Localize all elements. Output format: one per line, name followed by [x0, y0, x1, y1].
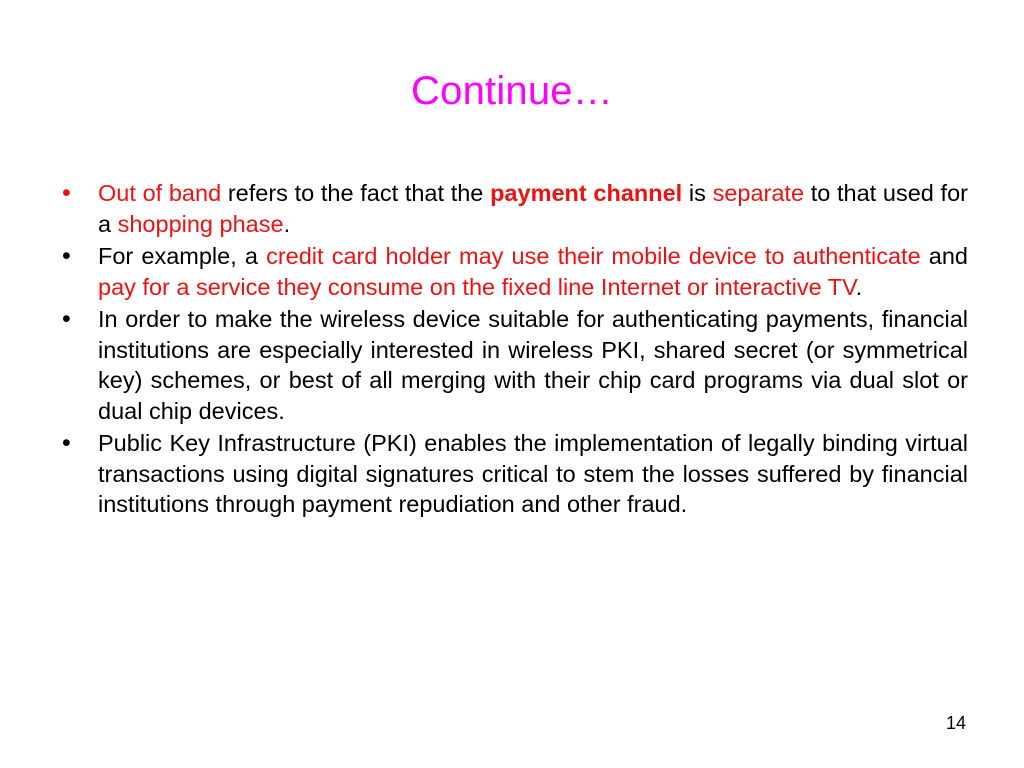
- list-item-text: For example, a credit card holder may us…: [98, 241, 968, 302]
- text-run: Public Key Infrastructure (PKI) enables …: [98, 430, 968, 517]
- bullet-point-icon: •: [62, 304, 71, 335]
- text-run-emphasis: credit card holder may use their mobile …: [266, 243, 921, 269]
- text-run-emphasis: pay for a service they consume on the fi…: [98, 274, 856, 300]
- list-item-text: Out of band refers to the fact that the …: [98, 178, 968, 239]
- list-item: • In order to make the wireless device s…: [58, 304, 968, 426]
- text-run: and: [921, 243, 968, 269]
- text-run: For example, a: [98, 243, 266, 269]
- bullet-point-icon: •: [62, 428, 71, 459]
- list-item-text: Public Key Infrastructure (PKI) enables …: [98, 428, 968, 520]
- list-item: • Out of band refers to the fact that th…: [58, 178, 968, 239]
- text-run: .: [284, 211, 291, 237]
- text-run: refers to the fact that the: [221, 180, 490, 206]
- slide-canvas: Continue… • Out of band refers to the fa…: [0, 0, 1024, 768]
- bullet-point-icon: •: [62, 241, 71, 272]
- list-item: • For example, a credit card holder may …: [58, 241, 968, 302]
- text-run-emphasis: shopping phase: [118, 211, 284, 237]
- bullet-point-icon: •: [62, 178, 71, 209]
- text-run: is: [682, 180, 712, 206]
- text-run-strong: payment channel: [490, 180, 682, 206]
- text-run: In order to make the wireless device sui…: [98, 306, 968, 424]
- text-run-emphasis: separate: [713, 180, 804, 206]
- page-number: 14: [946, 712, 966, 734]
- list-item: • Public Key Infrastructure (PKI) enable…: [58, 428, 968, 520]
- text-run-emphasis: Out of band: [98, 180, 221, 206]
- list-item-text: In order to make the wireless device sui…: [98, 304, 968, 426]
- page-title: Continue…: [0, 68, 1024, 114]
- text-run: .: [856, 274, 863, 300]
- bullet-list: • Out of band refers to the fact that th…: [58, 178, 968, 522]
